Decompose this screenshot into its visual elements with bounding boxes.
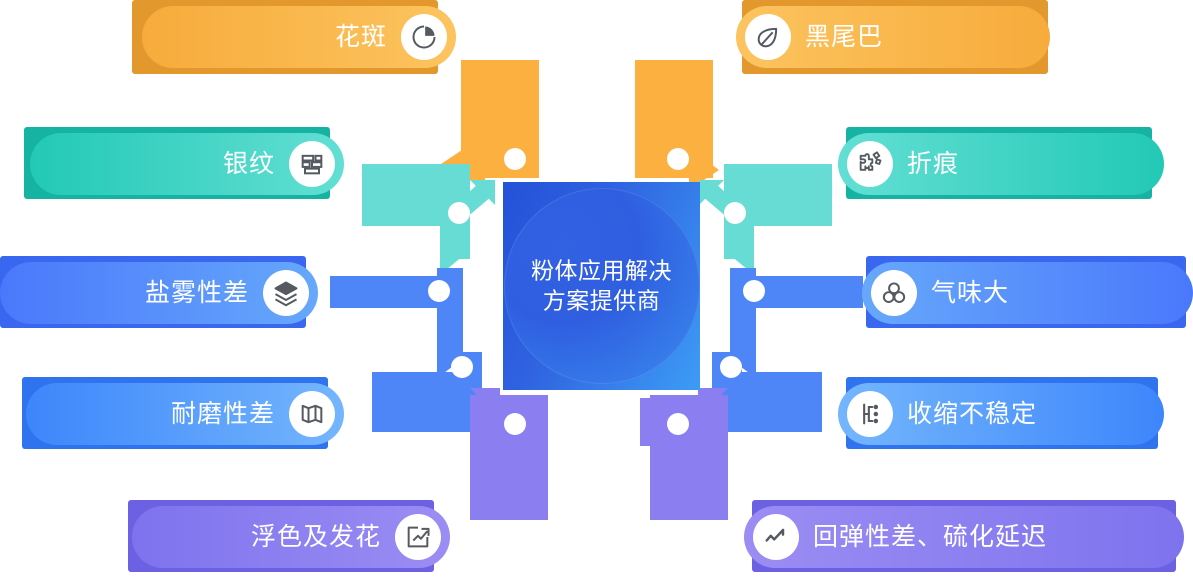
line-chart-icon [753,514,799,560]
connector-orange-right [635,60,719,190]
node-right-2-label: 折痕 [907,152,959,177]
connector-purple-left [470,388,548,520]
node-right-3-label: 气味大 [931,281,1009,306]
connector-dot [504,413,526,435]
connector-dot [667,413,689,435]
node-left-4-label: 耐磨性差 [171,402,275,427]
connector-blue2-right [712,352,822,432]
connector-dot [667,148,689,170]
node-left-4[interactable]: 耐磨性差 [26,383,344,445]
open-book-icon [289,391,335,437]
node-left-1[interactable]: 花斑 [142,6,456,68]
node-right-5[interactable]: 回弹性差、硫化延迟 [744,506,1184,568]
node-left-2-label: 银纹 [223,152,275,177]
connector-dot [451,356,473,378]
connector-dot [448,202,470,224]
trend-up-chart-icon [395,514,441,560]
node-left-5[interactable]: 浮色及发花 [132,506,450,568]
node-right-2[interactable]: 折痕 [838,133,1164,195]
connector-dot [720,356,742,378]
connector-teal-right [699,164,832,275]
node-right-5-label: 回弹性差、硫化延迟 [813,525,1047,550]
connector-teal-left [362,164,495,275]
brick-wall-icon [289,141,335,187]
diagram-canvas: 粉体应用解决 方案提供商 花斑 银纹 盐雾性差 [0,0,1193,577]
center-node[interactable]: 粉体应用解决 方案提供商 [503,182,700,390]
connector-blue-left [330,268,467,378]
connector-blue2-left [372,352,482,432]
connector-dot [504,148,526,170]
node-right-3[interactable]: 气味大 [862,262,1193,324]
recycle-circles-icon [871,270,917,316]
node-left-5-label: 浮色及发花 [251,525,381,550]
node-right-1-label: 黑尾巴 [805,25,883,50]
connector-blue-right [726,268,863,378]
puzzle-piece-icon [847,141,893,187]
node-left-1-label: 花斑 [335,25,387,50]
pie-chart-icon [401,14,447,60]
node-right-1[interactable]: 黑尾巴 [736,6,1050,68]
connector-orange-left [432,60,539,190]
sitemap-nodes-icon [847,391,893,437]
node-left-3[interactable]: 盐雾性差 [0,262,318,324]
connector-dot [428,280,450,302]
connector-dot [743,280,765,302]
connector-purple-right [640,388,728,520]
node-left-2[interactable]: 银纹 [30,133,344,195]
node-right-4[interactable]: 收缩不稳定 [838,383,1164,445]
layers-icon [263,270,309,316]
leaf-icon [745,14,791,60]
connector-dot [724,202,746,224]
node-left-3-label: 盐雾性差 [145,281,249,306]
node-right-4-label: 收缩不稳定 [907,402,1037,427]
center-title: 粉体应用解决 方案提供商 [512,256,692,317]
